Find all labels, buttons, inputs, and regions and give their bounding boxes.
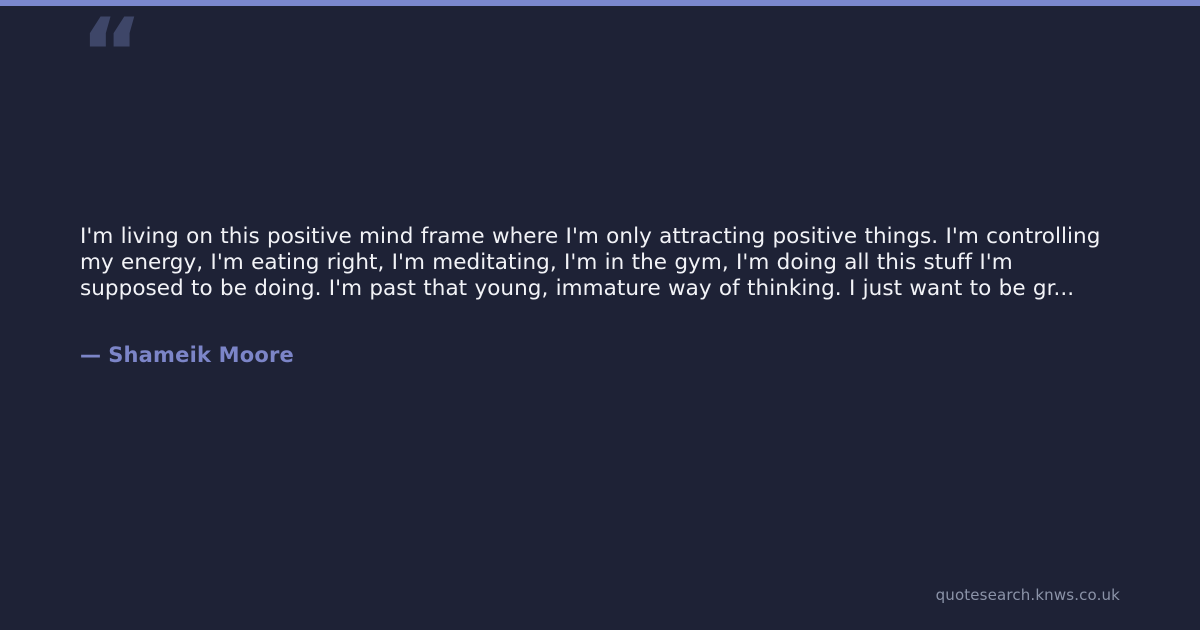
quote-content: I'm living on this positive mind frame w…	[80, 224, 1110, 368]
quotation-mark-icon: “	[80, 6, 141, 102]
author-name: Shameik Moore	[108, 343, 294, 367]
top-accent-bar	[0, 0, 1200, 6]
em-dash: —	[80, 342, 101, 368]
quote-text: I'm living on this positive mind frame w…	[80, 224, 1110, 301]
quote-attribution: —Shameik Moore	[80, 342, 1110, 368]
quote-card: “ I'm living on this positive mind frame…	[0, 0, 1200, 630]
site-watermark: quotesearch.knws.co.uk	[936, 586, 1120, 605]
